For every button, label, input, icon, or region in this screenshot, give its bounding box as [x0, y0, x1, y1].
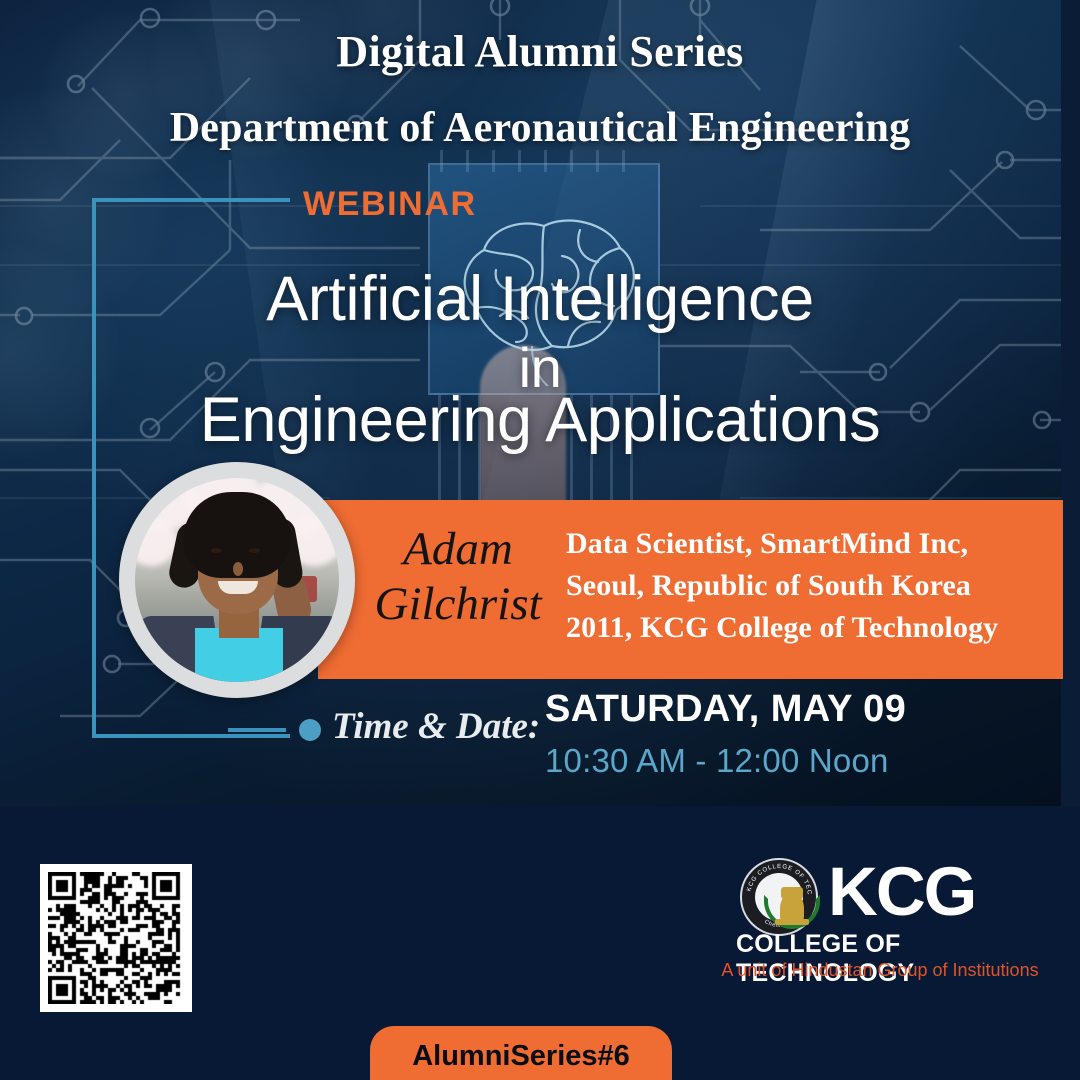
webinar-kicker: WEBINAR: [303, 185, 477, 224]
qr-code[interactable]: [40, 864, 192, 1012]
bullet-dot-icon: [299, 719, 321, 741]
lamp-base: [775, 919, 809, 925]
series-title: Digital Alumni Series: [0, 26, 1080, 77]
kcg-wordmark: KCG: [828, 852, 975, 931]
webinar-poster: Digital Alumni Series Department of Aero…: [0, 0, 1080, 1080]
speaker-photo: [135, 478, 339, 682]
schedule-date: SATURDAY, MAY 09: [545, 688, 906, 731]
schedule-label: Time & Date:: [332, 705, 540, 748]
kcg-logo: KCG COLLEGE OF TECHNOLOGY Chennai KCG CO…: [700, 852, 1060, 992]
alumni-series-badge: AlumniSeries#6: [370, 1026, 672, 1080]
department-title: Department of Aeronautical Engineering: [0, 104, 1080, 152]
kcg-unit-line: A unit of Hindustan Group of Institution…: [700, 960, 1060, 981]
schedule-rule: [228, 728, 286, 732]
kcg-seal-icon: KCG COLLEGE OF TECHNOLOGY Chennai: [740, 858, 818, 936]
schedule-time: 10:30 AM - 12:00 Noon: [545, 742, 889, 780]
event-title-line1: Artificial Intelligence: [0, 263, 1080, 335]
alumni-series-badge-label: AlumniSeries#6: [370, 1040, 672, 1073]
seal-inner-disc: [755, 873, 803, 921]
speaker-detail-role: Data Scientist, SmartMind Inc,: [566, 527, 968, 561]
speaker-detail-location: Seoul, Republic of South Korea: [566, 569, 971, 603]
speaker-name: Adam Gilchrist: [352, 522, 564, 632]
event-title-line3: Engineering Applications: [0, 384, 1080, 456]
speaker-detail-alma-mater: 2011, KCG College of Technology: [566, 611, 998, 645]
